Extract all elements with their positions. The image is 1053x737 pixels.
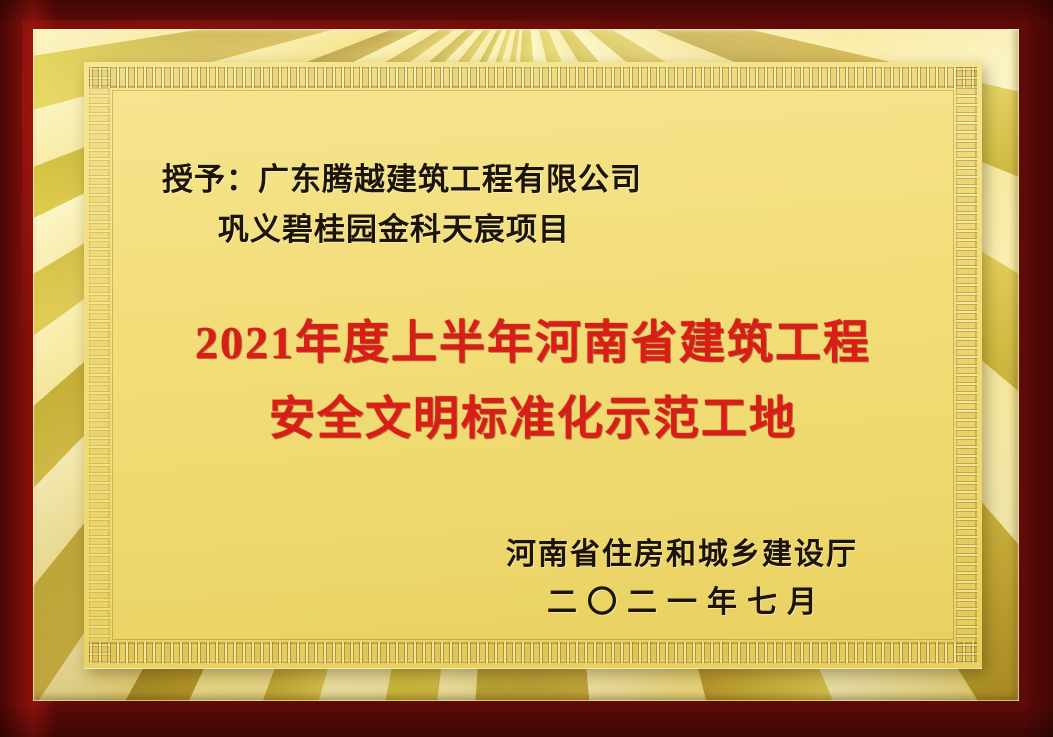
certificate-content: 授予：广东腾越建筑工程有限公司 巩义碧桂园金科天宸项目 2021年度上半年河南省… bbox=[84, 62, 982, 668]
issue-date: 二〇二一年七月 bbox=[492, 578, 872, 628]
award-project-name: 巩义碧桂园金科天宸项目 bbox=[162, 205, 962, 255]
issuing-authority: 河南省住房和城乡建设厅 bbox=[492, 532, 872, 578]
award-title-block: 2021年度上半年河南省建筑工程 安全文明标准化示范工地 bbox=[84, 305, 982, 457]
gold-plate: 授予：广东腾越建筑工程有限公司 巩义碧桂园金科天宸项目 2021年度上半年河南省… bbox=[33, 29, 1019, 701]
award-title-line-2: 安全文明标准化示范工地 bbox=[84, 381, 982, 457]
award-recipient-company: 授予：广东腾越建筑工程有限公司 bbox=[162, 155, 962, 205]
award-recipient-block: 授予：广东腾越建筑工程有限公司 巩义碧桂园金科天宸项目 bbox=[162, 155, 962, 255]
certificate-panel: 授予：广东腾越建筑工程有限公司 巩义碧桂园金科天宸项目 2021年度上半年河南省… bbox=[84, 62, 982, 668]
award-title-line-1: 2021年度上半年河南省建筑工程 bbox=[84, 305, 982, 381]
issuer-block: 河南省住房和城乡建设厅 二〇二一年七月 bbox=[492, 532, 872, 628]
award-plaque: 授予：广东腾越建筑工程有限公司 巩义碧桂园金科天宸项目 2021年度上半年河南省… bbox=[0, 0, 1053, 737]
